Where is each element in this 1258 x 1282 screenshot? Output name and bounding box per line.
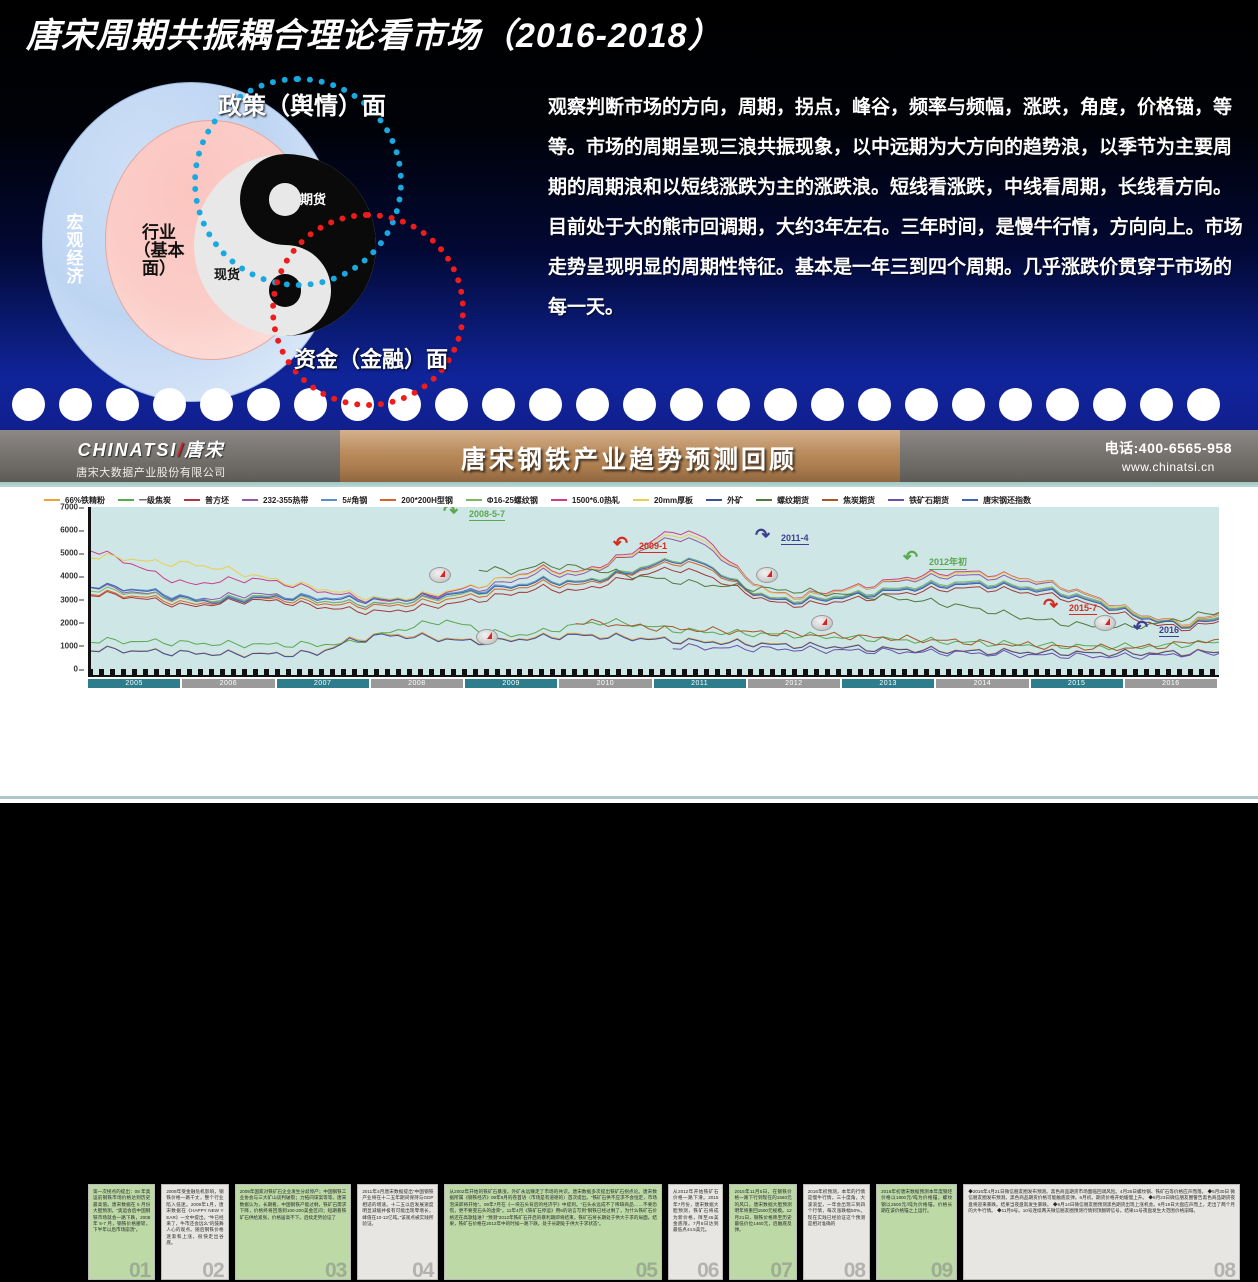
cycle-clock-marker	[1094, 615, 1116, 631]
legend-label: 200*200H型钢	[401, 495, 453, 506]
chart-annotation: 2012年初	[929, 555, 967, 570]
scallop-dot	[106, 388, 139, 421]
card-text: 2016年初唐宋数据预测本年度钢坯价格以1800元/吨为价格锚，螺纹钢以2500…	[881, 1189, 952, 1215]
legend-label: 唐宋钢还指数	[983, 495, 1031, 506]
scallop-dot	[717, 388, 750, 421]
y-axis-tick-label: 4000	[42, 572, 78, 581]
scallop-dot	[482, 388, 515, 421]
legend-swatch	[822, 499, 838, 501]
card-text: 从2012年开始铁矿石价格一路下滑。2015年7月份，唐宋数据大胆预测，铁矿石将…	[673, 1189, 718, 1234]
y-axis-tick-label: 7000	[42, 503, 78, 512]
card-number: 07	[770, 1259, 791, 1280]
spot-label: 现货	[214, 264, 240, 283]
legend-swatch	[756, 499, 772, 501]
scallop-dot	[1093, 388, 1126, 421]
card-text: 2011年4月唐宋数据提出“中国钢铁产业将在十二五年期间保持与GDP相适的增速。…	[362, 1189, 433, 1227]
callout-card[interactable]: 从2012年开始铁矿石价格一路下滑。2015年7月份，唐宋数据大胆预测，铁矿石将…	[668, 1184, 723, 1280]
card-text: 2008年受金融危机影响，钢铁价格一路千丈，整个行业陷入低迷。2009年1月，唐…	[166, 1189, 223, 1247]
legend-swatch	[466, 499, 482, 501]
card-stem-line	[122, 1184, 123, 1185]
card-text: 2015年11月5日，在钢铁价格一路下行到现在的1560元的风口，唐宋数据大胆预…	[734, 1189, 791, 1234]
scallop-dot	[811, 388, 844, 421]
card-stem-line	[1102, 1184, 1103, 1185]
legend-item[interactable]: 铁矿石期货	[888, 495, 949, 506]
callout-card[interactable]: 从2002年开始的铁矿石暴涨，外矿永远赚走了市场的共识。唐宋数据多次提出铁矿石拐…	[444, 1184, 662, 1280]
chart-annotation: 2011-4	[781, 533, 809, 545]
card-number: 01	[129, 1259, 150, 1280]
legend-label: 普方坯	[205, 495, 229, 506]
callout-card[interactable]: 2009年国家对铁矿石企业发生分歧停产；中国钢铁工业协会与三大矿山谈判破裂；力拓…	[235, 1184, 352, 1280]
year-label: 2012	[748, 679, 840, 688]
year-label: 2008	[371, 679, 463, 688]
chart-panel: 66%铁精粉一级焦炭普方坯232-355热带5#角钢200*200H型钢Φ16-…	[0, 487, 1258, 803]
legend-item[interactable]: 普方坯	[184, 495, 229, 506]
scallop-dot	[12, 388, 45, 421]
scallop-dot	[59, 388, 92, 421]
y-axis-tick-label: 5000	[42, 549, 78, 558]
y-axis-tick-label: 3000	[42, 595, 78, 604]
card-text: 第一次拐点的提出：08 年奥运前钢铁市场价格达到历史最高值。唐宋数据在 5 月份…	[93, 1189, 150, 1234]
card-stem-line	[553, 1184, 554, 1185]
card-text: ◆2016年4月21日微信朋友圈发布预测。黑色商品期货市场面临回调风险。4月25…	[968, 1189, 1235, 1215]
chart-annotation: 2008-5-7	[469, 509, 505, 521]
scallop-dot	[153, 388, 186, 421]
card-number: 05	[636, 1259, 657, 1280]
legend-item[interactable]: 1500*6.0热轧	[551, 495, 620, 506]
scallop-dot	[623, 388, 656, 421]
annotation-arrow-icon: ↷	[443, 507, 458, 522]
card-stem-line	[398, 1184, 399, 1185]
legend-swatch	[380, 499, 396, 501]
legend-item[interactable]: 外矿	[706, 495, 743, 506]
legend-swatch	[962, 499, 978, 501]
year-label: 2009	[465, 679, 557, 688]
y-axis-tick-label: 6000	[42, 526, 78, 535]
scallop-dot	[1140, 388, 1173, 421]
policy-label: 政策（舆情）面	[218, 86, 386, 121]
cycle-clock-marker	[429, 567, 451, 583]
chart-plot-area: 70006000500040003000200010000 2008-5-7↷2…	[44, 507, 1229, 687]
legend-label: 铁矿石期货	[909, 495, 949, 506]
body-paragraph-2: 目前处于大的熊市回调期，大约3年左右。三年时间，是慢牛行情，方向向上。市场走势呈…	[548, 208, 1248, 328]
legend-item[interactable]: 焦炭期货	[822, 495, 875, 506]
legend-label: 焦炭期货	[843, 495, 875, 506]
callout-card-row: 第一次拐点的提出：08 年奥运前钢铁市场价格达到历史最高值。唐宋数据在 5 月份…	[88, 1184, 1246, 1282]
plot-canvas: 2008-5-7↷2009-1↶2011-4↷2012年初↶2015-7↷201…	[88, 507, 1219, 669]
y-axis-tick-label: 2000	[42, 618, 78, 627]
card-stem-line	[293, 1184, 294, 1185]
card-text: 从2002年开始的铁矿石暴涨，外矿永远赚走了市场的共识。唐宋数据多次提出铁矿石拐…	[449, 1189, 657, 1227]
callout-card[interactable]: 2016年初唐宋数据预测本年度钢坯价格以1800元/吨为价格锚，螺纹钢以2500…	[876, 1184, 957, 1280]
cycle-clock-marker	[811, 615, 833, 631]
series-line	[91, 558, 1219, 626]
legend-swatch	[321, 499, 337, 501]
scallop-dot-row	[0, 384, 1258, 424]
body-paragraph: 观察判断市场的方向，周期，拐点，峰谷，频率与频幅，涨跌，角度，价格锚，等等。市场…	[548, 88, 1248, 328]
legend-item[interactable]: Φ16-25螺纹钢	[466, 495, 538, 506]
year-label: 2013	[842, 679, 934, 688]
y-axis-tick-label: 1000	[42, 641, 78, 650]
card-text: 2016年初预测，本年的行情是慢牛行情，三十度角，大波浪型，一年会出现三到四个行…	[808, 1189, 865, 1227]
scallop-dot	[529, 388, 562, 421]
body-paragraph-1: 观察判断市场的方向，周期，拐点，峰谷，频率与频幅，涨跌，角度，价格锚，等等。市场…	[548, 88, 1248, 208]
legend-label: 一级焦炭	[139, 495, 171, 506]
x-axis-tick-strip	[88, 669, 1219, 677]
legend-item[interactable]: 20mm厚板	[633, 495, 693, 506]
legend-item[interactable]: 200*200H型钢	[380, 495, 453, 506]
card-number: 09	[931, 1259, 952, 1280]
chart-annotation: 2009-1	[639, 541, 667, 553]
card-number: 02	[202, 1259, 223, 1280]
venn-taiji-diagram: 宏观经济 行业（基本面） 期货 现货 政策（舆情）面 资金（金融）面	[22, 64, 542, 416]
card-number: 03	[325, 1259, 346, 1280]
y-axis-tick-label: 0	[42, 665, 78, 674]
y-axis: 70006000500040003000200010000	[44, 507, 84, 669]
callout-card[interactable]: 2016年初预测，本年的行情是慢牛行情，三十度角，大波浪型，一年会出现三到四个行…	[803, 1184, 870, 1280]
scallop-dot	[1187, 388, 1220, 421]
macro-economy-label: 宏观经济	[62, 214, 88, 285]
legend-label: 5#角钢	[342, 495, 367, 506]
annotation-arrow-icon: ↶	[1133, 617, 1148, 638]
legend-item[interactable]: 5#角钢	[321, 495, 367, 506]
year-label: 2010	[559, 679, 651, 688]
legend-label: Φ16-25螺纹钢	[487, 495, 538, 506]
card-stem-line	[836, 1184, 837, 1185]
card-stem-line	[763, 1184, 764, 1185]
year-label: 2016	[1125, 679, 1217, 688]
legend-swatch	[184, 499, 200, 501]
annotation-arrow-icon: ↷	[1043, 595, 1058, 616]
page-title: 唐宋周期共振耦合理论看市场（2016-2018）	[26, 8, 723, 57]
series-line	[91, 619, 1219, 650]
cycle-clock-marker	[476, 629, 498, 645]
year-label: 2015	[1031, 679, 1123, 688]
callout-card[interactable]: 2008年受金融危机影响，钢铁价格一路千丈，整个行业陷入低迷。2009年1月，唐…	[161, 1184, 228, 1280]
scallop-dot	[435, 388, 468, 421]
scallop-dot	[576, 388, 609, 421]
chart-annotation: 2016	[1159, 625, 1179, 637]
legend-label: 232-355热带	[263, 495, 308, 506]
legend-swatch	[118, 499, 134, 501]
annotation-arrow-icon: ↷	[755, 525, 770, 546]
year-label: 2006	[182, 679, 274, 688]
card-stem-line	[195, 1184, 196, 1185]
legend-swatch	[44, 499, 60, 501]
callout-card[interactable]: 2015年11月5日，在钢铁价格一路下行到现在的1560元的风口，唐宋数据大胆预…	[729, 1184, 796, 1280]
futures-label: 期货	[300, 189, 326, 208]
legend-swatch	[633, 499, 649, 501]
card-stem-line	[696, 1184, 697, 1185]
scallop-dot	[247, 388, 280, 421]
legend-swatch	[706, 499, 722, 501]
top-section: 唐宋周期共振耦合理论看市场（2016-2018） 宏观经济 行业（基本面） 期货…	[0, 0, 1258, 430]
capital-dashed-circle	[270, 212, 466, 408]
callout-card[interactable]: 第一次拐点的提出：08 年奥运前钢铁市场价格达到历史最高值。唐宋数据在 5 月份…	[88, 1184, 155, 1280]
scallop-dot	[905, 388, 938, 421]
bottom-rule	[0, 796, 1258, 799]
legend-item[interactable]: 232-355热带	[242, 495, 308, 506]
year-label: 2005	[88, 679, 180, 688]
chart-annotation: 2015-7	[1069, 603, 1097, 615]
legend-label: 20mm厚板	[654, 495, 693, 506]
series-line	[576, 619, 1219, 650]
scallop-dot	[200, 388, 233, 421]
card-stem-line	[917, 1184, 918, 1185]
annotation-arrow-icon: ↶	[903, 547, 918, 568]
legend-swatch	[242, 499, 258, 501]
legend-swatch	[551, 499, 567, 501]
callout-card[interactable]: ◆2016年4月21日微信朋友圈发布预测。黑色商品期货市场面临回调风险。4月25…	[963, 1184, 1240, 1280]
legend-item[interactable]: 唐宋钢还指数	[962, 495, 1031, 506]
scallop-dot	[952, 388, 985, 421]
card-number: 04	[412, 1259, 433, 1280]
card-number: 08	[844, 1259, 865, 1280]
scallop-dot	[999, 388, 1032, 421]
legend-label: 外矿	[727, 495, 743, 506]
scallop-dot	[670, 388, 703, 421]
annotation-arrow-icon: ↶	[613, 533, 628, 554]
industry-label: 行业（基本面）	[130, 224, 188, 278]
card-text: 2009年国家对铁矿石企业发生分歧停产；中国钢铁工业协会与三大矿山谈判破裂；力拓…	[240, 1189, 347, 1221]
card-number: 08	[1214, 1259, 1235, 1280]
banner-title: 唐宋钢铁产业趋势预测回顾	[0, 440, 1258, 476]
x-axis-year-bar: 2005200620072008200920102011201220132014…	[88, 679, 1219, 688]
legend-item[interactable]: 一级焦炭	[118, 495, 171, 506]
year-label: 2014	[936, 679, 1028, 688]
cycle-clock-marker	[756, 567, 778, 583]
legend-item[interactable]: 螺纹期货	[756, 495, 809, 506]
year-label: 2011	[654, 679, 746, 688]
series-lines	[91, 507, 1219, 669]
card-number: 06	[697, 1259, 718, 1280]
scallop-dot	[858, 388, 891, 421]
scallop-dot	[764, 388, 797, 421]
legend-label: 螺纹期货	[777, 495, 809, 506]
callout-card[interactable]: 2011年4月唐宋数据提出“中国钢铁产业将在十二五年期间保持与GDP相适的增速。…	[357, 1184, 438, 1280]
legend-swatch	[888, 499, 904, 501]
year-label: 2007	[277, 679, 369, 688]
scallop-dot	[1046, 388, 1079, 421]
slide-root: 唐宋周期共振耦合理论看市场（2016-2018） 宏观经济 行业（基本面） 期货…	[0, 0, 1258, 803]
capital-label: 资金（金融）面	[294, 342, 448, 374]
brand-banner: 唐宋钢铁产业趋势预测回顾 CHINATSI/唐宋 唐宋大数据产业股份有限公司 电…	[0, 430, 1258, 482]
legend-label: 1500*6.0热轧	[572, 495, 620, 506]
